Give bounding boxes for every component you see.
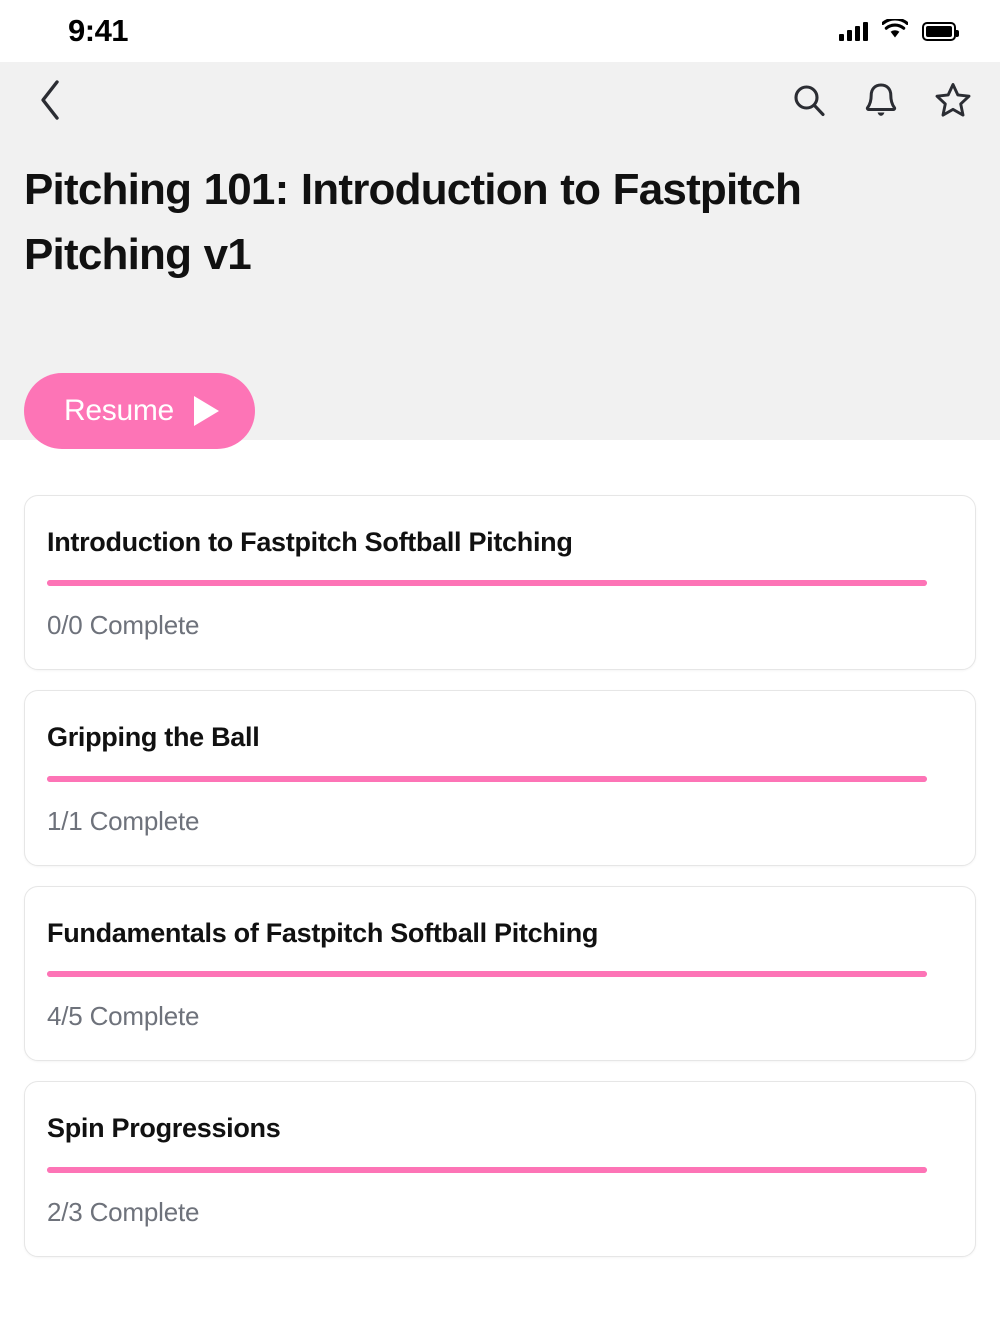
module-progress-bar <box>47 776 927 782</box>
module-card[interactable]: Introduction to Fastpitch Softball Pitch… <box>24 495 976 670</box>
module-title: Gripping the Ball <box>47 721 951 753</box>
module-progress-bar <box>47 1167 927 1173</box>
module-title: Introduction to Fastpitch Softball Pitch… <box>47 526 951 558</box>
play-icon <box>194 396 219 426</box>
module-status: 2/3 Complete <box>47 1197 951 1228</box>
cellular-signal-icon <box>839 21 868 41</box>
wifi-icon <box>882 19 908 44</box>
page-title: Pitching 101: Introduction to Fastpitch … <box>0 140 1000 287</box>
resume-button[interactable]: Resume <box>24 373 255 449</box>
search-button[interactable] <box>784 76 834 126</box>
resume-button-wrapper: Resume <box>24 373 255 449</box>
navbar-action-group <box>784 76 978 126</box>
back-button[interactable] <box>26 76 76 126</box>
app-screen: 9:41 <box>0 0 1000 1334</box>
module-title: Spin Progressions <box>47 1112 951 1144</box>
module-status: 4/5 Complete <box>47 1001 951 1032</box>
module-card[interactable]: Gripping the Ball 1/1 Complete <box>24 690 976 865</box>
status-bar: 9:41 <box>0 0 1000 62</box>
module-status: 0/0 Complete <box>47 610 951 641</box>
status-bar-icons <box>839 19 956 44</box>
module-card[interactable]: Fundamentals of Fastpitch Softball Pitch… <box>24 886 976 1061</box>
battery-icon <box>922 22 956 41</box>
module-list: Introduction to Fastpitch Softball Pitch… <box>0 440 1000 1257</box>
module-progress-fill <box>47 776 927 782</box>
search-icon <box>791 82 827 121</box>
module-progress-bar <box>47 971 927 977</box>
star-outline-icon <box>934 81 972 122</box>
navbar-left-group <box>26 76 76 126</box>
module-card[interactable]: Spin Progressions 2/3 Complete <box>24 1081 976 1256</box>
chevron-left-icon <box>38 79 64 124</box>
favorite-button[interactable] <box>928 76 978 126</box>
navigation-bar <box>0 62 1000 140</box>
module-title: Fundamentals of Fastpitch Softball Pitch… <box>47 917 951 949</box>
notifications-button[interactable] <box>856 76 906 126</box>
module-progress-fill <box>47 1167 927 1173</box>
status-bar-time: 9:41 <box>68 13 128 49</box>
module-progress-fill <box>47 580 927 586</box>
resume-button-label: Resume <box>64 394 174 428</box>
bell-icon <box>864 81 898 122</box>
module-status: 1/1 Complete <box>47 806 951 837</box>
module-progress-fill <box>47 971 927 977</box>
module-progress-bar <box>47 580 927 586</box>
